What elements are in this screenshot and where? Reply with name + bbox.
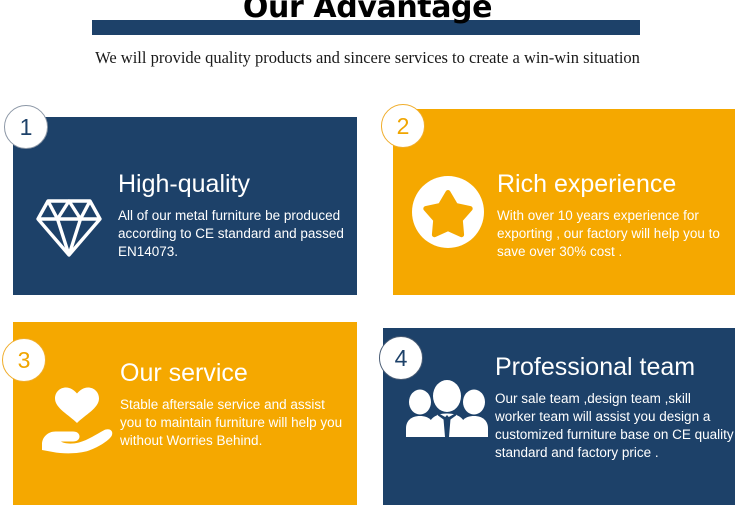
diamond-icon [35,197,103,264]
card-number-badge-1: 1 [4,105,48,149]
card-heading: High-quality [118,169,346,199]
advantage-card-our-service: Our service Stable aftersale service and… [13,322,357,505]
card-body: Stable aftersale service and assist you … [120,396,350,450]
card-body: Our sale team ,design team ,skill worker… [495,390,735,462]
card-text-block: Professional team Our sale team ,design … [495,352,735,462]
page-title: Our Advantage [0,0,735,25]
page-subtitle: We will provide quality products and sin… [0,47,735,68]
card-text-block: Rich experience With over 10 years exper… [497,169,735,261]
card-heading: Our service [120,358,350,388]
advantage-card-high-quality: High-quality All of our metal furniture … [13,117,357,295]
card-text-block: Our service Stable aftersale service and… [120,358,350,450]
star-circle-icon [412,176,484,253]
card-number-badge-2: 2 [381,104,425,148]
team-people-icon [405,380,489,443]
hand-heart-icon [39,384,115,459]
card-body: All of our metal furniture be produced a… [118,207,346,261]
card-heading: Rich experience [497,169,735,199]
card-number-badge-4: 4 [379,336,423,380]
card-heading: Professional team [495,352,735,382]
advantage-card-rich-experience: Rich experience With over 10 years exper… [393,109,735,295]
advantage-card-professional-team: Professional team Our sale team ,design … [383,328,735,505]
header: Our Advantage We will provide quality pr… [0,0,735,96]
card-number-badge-3: 3 [2,338,46,382]
card-body: With over 10 years experience for export… [497,207,735,261]
card-text-block: High-quality All of our metal furniture … [118,169,346,261]
